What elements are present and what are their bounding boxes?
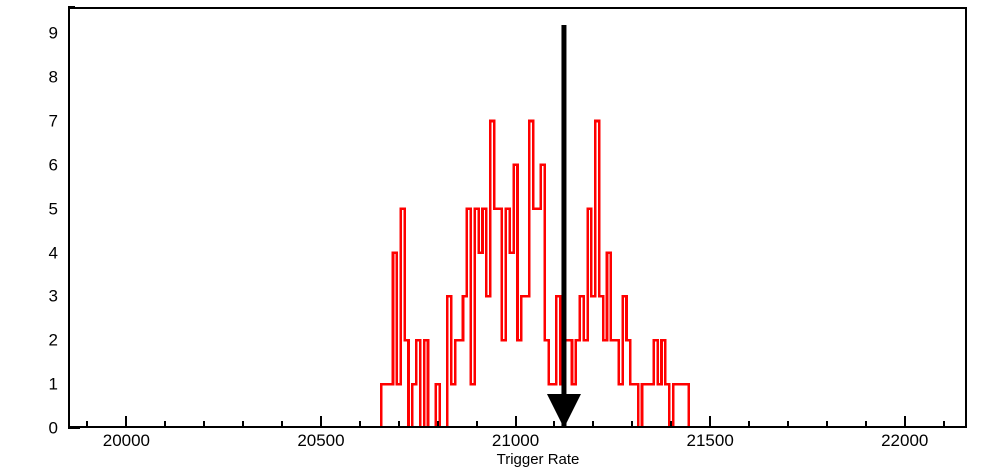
x-tick-minor xyxy=(242,421,244,428)
x-tick-major xyxy=(320,416,322,428)
x-tick-major xyxy=(709,416,711,428)
x-tick-label: 21000 xyxy=(492,432,539,449)
trigger-rate-histogram-panel: Current: 21124.38 Hz 0123456789 20000205… xyxy=(0,0,996,472)
x-tick-minor xyxy=(787,421,789,428)
x-tick-label: 20500 xyxy=(297,432,344,449)
x-tick-minor xyxy=(748,421,750,428)
x-tick-minor xyxy=(281,421,283,428)
x-tick-minor xyxy=(865,421,867,428)
x-tick-minor xyxy=(164,421,166,428)
x-tick-minor xyxy=(359,421,361,428)
x-tick-label: 20000 xyxy=(103,432,150,449)
x-tick-major xyxy=(515,416,517,428)
x-tick-major xyxy=(125,416,127,428)
x-tick-minor xyxy=(631,421,633,428)
x-tick-minor xyxy=(553,421,555,428)
x-axis: 2000020500210002150022000 xyxy=(0,0,996,472)
x-tick-minor xyxy=(437,421,439,428)
x-tick-minor xyxy=(398,421,400,428)
x-axis-title: Trigger Rate xyxy=(0,452,996,467)
x-tick-minor xyxy=(592,421,594,428)
x-tick-minor xyxy=(203,421,205,428)
x-tick-minor xyxy=(476,421,478,428)
x-tick-minor xyxy=(943,421,945,428)
x-tick-label: 21500 xyxy=(687,432,734,449)
x-tick-minor xyxy=(86,421,88,428)
x-axis-title-label: Trigger Rate xyxy=(497,451,580,468)
x-tick-major xyxy=(904,416,906,428)
x-tick-minor xyxy=(826,421,828,428)
x-tick-label: 22000 xyxy=(881,432,928,449)
x-tick-minor xyxy=(670,421,672,428)
